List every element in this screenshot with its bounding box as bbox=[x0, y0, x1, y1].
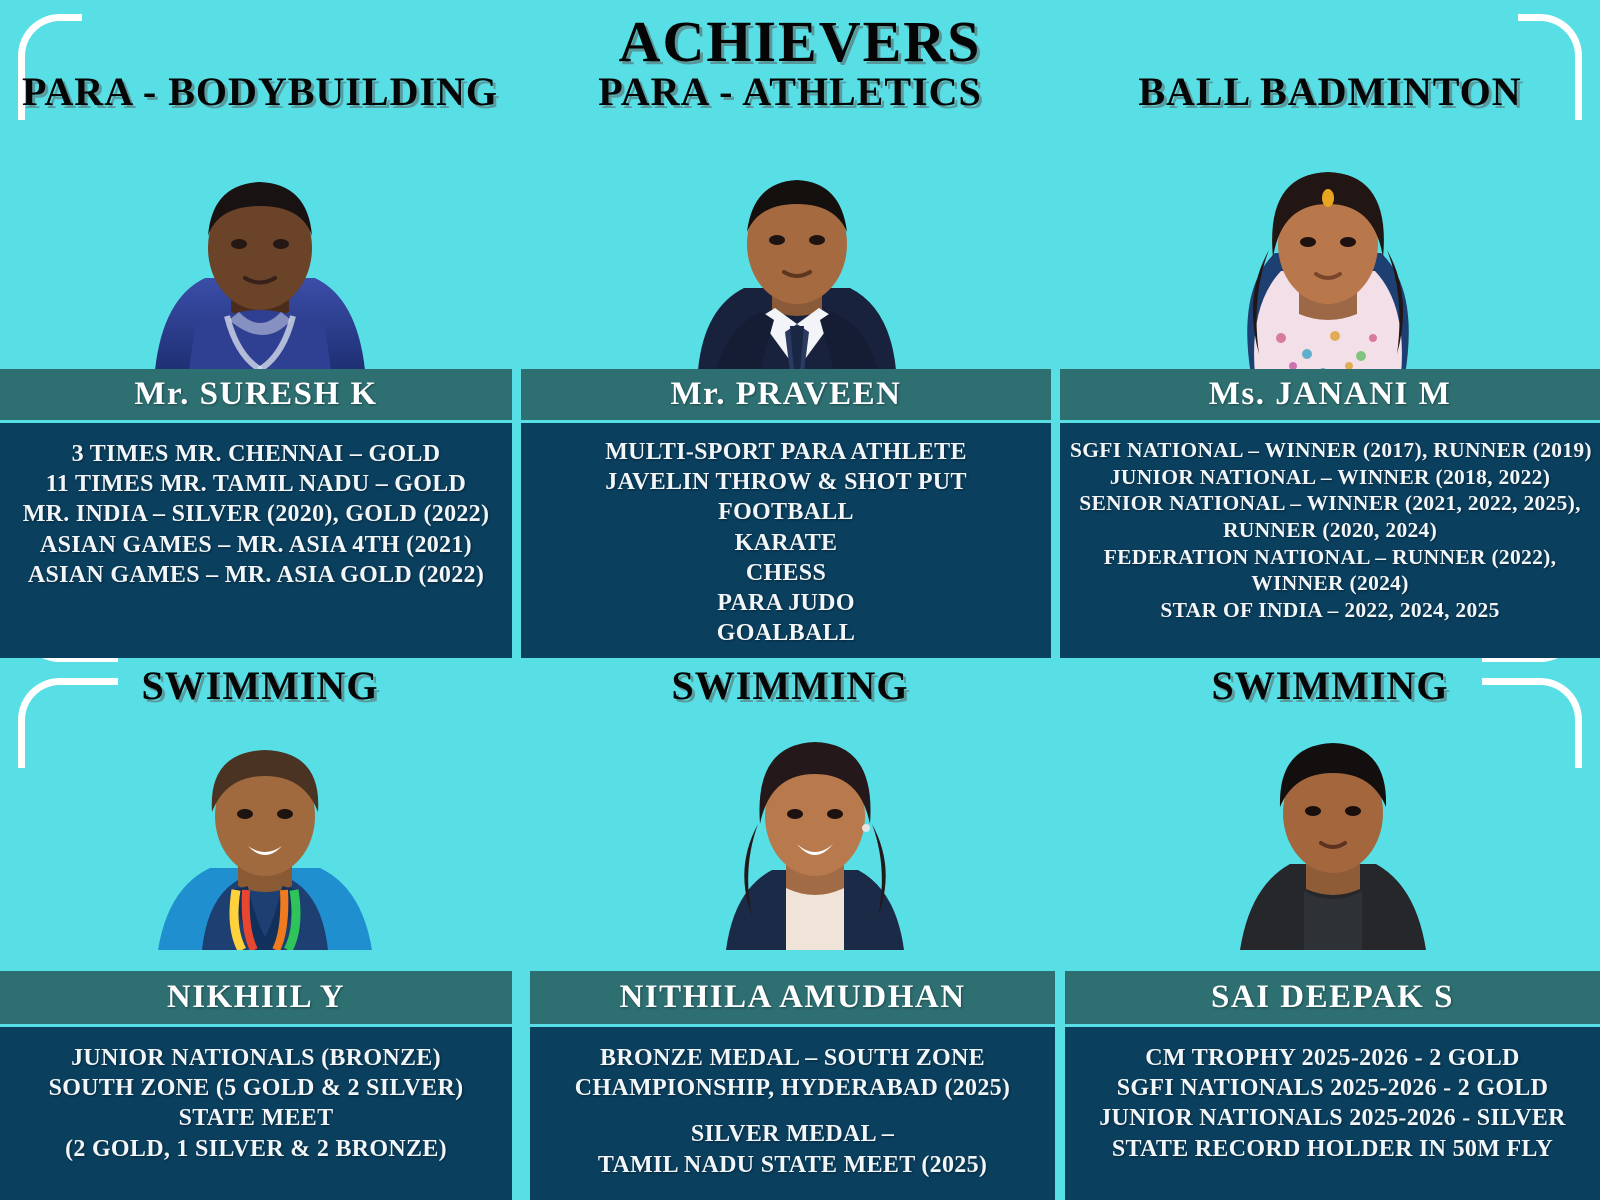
achiever-name: Mr. SURESH K bbox=[134, 376, 377, 413]
achievement-item: SOUTH ZONE (5 GOLD & 2 SILVER) bbox=[10, 1073, 502, 1103]
achievement-item: PARA JUDO bbox=[531, 588, 1041, 618]
achiever-name-band: Mr. PRAVEEN bbox=[521, 369, 1051, 423]
category-title-swimming-2: SWIMMING bbox=[520, 662, 1060, 709]
achievement-item: SGFI NATIONALS 2025-2026 - 2 GOLD bbox=[1075, 1073, 1590, 1103]
achievement-item: JAVELIN THROW & SHOT PUT bbox=[531, 467, 1041, 497]
achievement-item: (2 GOLD, 1 SILVER & 2 BRONZE) bbox=[10, 1134, 502, 1164]
achievements-list: SGFI NATIONAL – WINNER (2017), RUNNER (2… bbox=[1060, 423, 1600, 658]
achiever-card-praveen: Mr. PRAVEEN MULTI-SPORT PARA ATHLETE JAV… bbox=[521, 369, 1051, 661]
achievement-item: SILVER MEDAL – bbox=[540, 1119, 1045, 1149]
achievement-item: CHESS bbox=[531, 558, 1041, 588]
achievement-spacer bbox=[540, 1103, 1045, 1119]
achiever-name: Mr. PRAVEEN bbox=[670, 376, 901, 413]
achievements-list: 3 TIMES MR. CHENNAI – GOLD 11 TIMES MR. … bbox=[0, 423, 512, 658]
achievement-item: JUNIOR NATIONALS (BRONZE) bbox=[10, 1043, 502, 1073]
achievement-item: ASIAN GAMES – MR. ASIA 4TH (2021) bbox=[10, 530, 502, 560]
portrait-janani-m bbox=[1203, 140, 1453, 375]
achievement-item: 3 TIMES MR. CHENNAI – GOLD bbox=[10, 439, 502, 469]
achievement-item: BRONZE MEDAL – SOUTH ZONE bbox=[540, 1043, 1045, 1073]
achiever-card-nithila-amudhan: NITHILA AMUDHAN BRONZE MEDAL – SOUTH ZON… bbox=[530, 971, 1055, 1200]
achiever-card-nikhiil-y: NIKHIIL Y JUNIOR NATIONALS (BRONZE) SOUT… bbox=[0, 971, 512, 1200]
achievement-item: MR. INDIA – SILVER (2020), GOLD (2022) bbox=[10, 499, 502, 529]
achievements-list: JUNIOR NATIONALS (BRONZE) SOUTH ZONE (5 … bbox=[0, 1027, 512, 1200]
achievement-item: STATE RECORD HOLDER IN 50M FLY bbox=[1075, 1134, 1590, 1164]
achiever-card-suresh-k: Mr. SURESH K 3 TIMES MR. CHENNAI – GOLD … bbox=[0, 369, 512, 661]
achiever-name-band: NITHILA AMUDHAN bbox=[530, 971, 1055, 1027]
achievers-poster: ACHIEVERS PARA - BODYBUILDING PARA - ATH… bbox=[0, 0, 1600, 1200]
portrait-praveen bbox=[672, 140, 922, 370]
achievements-list: CM TROPHY 2025-2026 - 2 GOLD SGFI NATION… bbox=[1065, 1027, 1600, 1200]
category-title-para-bodybuilding: PARA - BODYBUILDING bbox=[0, 68, 520, 115]
achiever-card-janani-m: Ms. JANANI M SGFI NATIONAL – WINNER (201… bbox=[1060, 369, 1600, 661]
achiever-name-band: Ms. JANANI M bbox=[1060, 369, 1600, 423]
achievement-item: JUNIOR NATIONALS 2025-2026 - SILVER bbox=[1075, 1103, 1590, 1133]
achievement-item: KARATE bbox=[531, 528, 1041, 558]
achiever-name: SAI DEEPAK S bbox=[1211, 979, 1454, 1016]
achievements-list: MULTI-SPORT PARA ATHLETE JAVELIN THROW &… bbox=[521, 423, 1051, 658]
portrait-nikhiil-y bbox=[140, 712, 390, 950]
category-title-swimming-1: SWIMMING bbox=[0, 662, 520, 709]
achiever-name-band: NIKHIIL Y bbox=[0, 971, 512, 1027]
achievement-item: MULTI-SPORT PARA ATHLETE bbox=[531, 437, 1041, 467]
achievement-item: SENIOR NATIONAL – WINNER (2021, 2022, 20… bbox=[1070, 490, 1590, 517]
achiever-name-band: Mr. SURESH K bbox=[0, 369, 512, 423]
achievement-item: 11 TIMES MR. TAMIL NADU – GOLD bbox=[10, 469, 502, 499]
achievement-item: FEDERATION NATIONAL – RUNNER (2022), bbox=[1070, 544, 1590, 571]
achiever-name-band: SAI DEEPAK S bbox=[1065, 971, 1600, 1027]
achievement-item: TAMIL NADU STATE MEET (2025) bbox=[540, 1150, 1045, 1180]
achievement-item: CM TROPHY 2025-2026 - 2 GOLD bbox=[1075, 1043, 1590, 1073]
category-title-swimming-3: SWIMMING bbox=[1060, 662, 1600, 709]
category-title-para-athletics: PARA - ATHLETICS bbox=[520, 68, 1060, 115]
achievement-item: GOALBALL bbox=[531, 618, 1041, 648]
achievement-item: STAR OF INDIA – 2022, 2024, 2025 bbox=[1070, 597, 1590, 624]
achiever-name: Ms. JANANI M bbox=[1209, 376, 1452, 413]
portrait-sai-deepak-s bbox=[1218, 705, 1448, 950]
achiever-card-sai-deepak-s: SAI DEEPAK S CM TROPHY 2025-2026 - 2 GOL… bbox=[1065, 971, 1600, 1200]
achievement-item: SGFI NATIONAL – WINNER (2017), RUNNER (2… bbox=[1070, 437, 1590, 464]
category-title-ball-badminton: BALL BADMINTON bbox=[1060, 68, 1600, 115]
achiever-name: NIKHIIL Y bbox=[167, 979, 345, 1016]
achievement-item: STATE MEET bbox=[10, 1103, 502, 1133]
achievement-item: CHAMPIONSHIP, HYDERABAD (2025) bbox=[540, 1073, 1045, 1103]
portrait-suresh-k bbox=[135, 140, 385, 370]
achievement-item: FOOTBALL bbox=[531, 497, 1041, 527]
achievement-item: RUNNER (2020, 2024) bbox=[1070, 517, 1590, 544]
achievement-item: WINNER (2024) bbox=[1070, 570, 1590, 597]
achievement-item: ASIAN GAMES – MR. ASIA GOLD (2022) bbox=[10, 560, 502, 590]
portrait-nithila-amudhan bbox=[700, 712, 930, 950]
achiever-name: NITHILA AMUDHAN bbox=[619, 979, 965, 1016]
page-title: ACHIEVERS bbox=[0, 8, 1600, 75]
achievement-item: JUNIOR NATIONAL – WINNER (2018, 2022) bbox=[1070, 464, 1590, 491]
achievements-list: BRONZE MEDAL – SOUTH ZONE CHAMPIONSHIP, … bbox=[530, 1027, 1055, 1200]
